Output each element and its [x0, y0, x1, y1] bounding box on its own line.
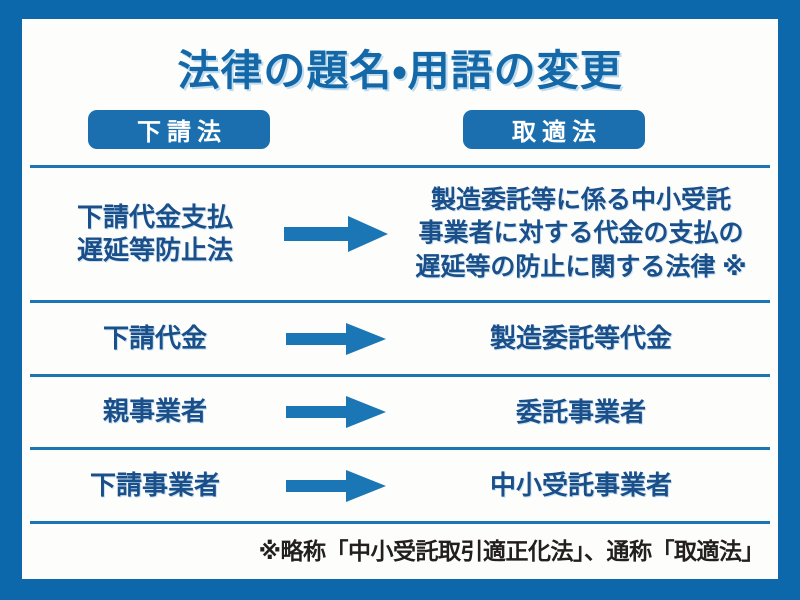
- table-row: 下請代金 製造委託等代金: [30, 303, 770, 374]
- old-term-label: 下請事業者: [30, 469, 280, 502]
- old-term-label: 下請代金支払 遅延等防止法: [30, 201, 280, 268]
- infographic-card: 法律の題名・用語の変更 下請法 取適法 下請代金支払 遅延等防止法 製造委託等に…: [22, 19, 778, 579]
- separator-line-bottom: [30, 521, 770, 524]
- right-arrow-icon: [286, 470, 386, 502]
- arrow-cell: [280, 396, 392, 428]
- column-header-new-law: 取適法: [463, 110, 645, 149]
- column-header-old-law: 下請法: [88, 110, 270, 149]
- footnote-text: ※略称「中小受託取引適正化法」、通称「取適法」: [30, 527, 770, 571]
- infographic-container: 法律の題名・用語の変更 下請法 取適法 下請代金支払 遅延等防止法 製造委託等に…: [0, 0, 800, 600]
- old-term-label: 親事業者: [30, 395, 280, 428]
- table-row: 下請代金支払 遅延等防止法 製造委託等に係る中小受託 事業者に対する代金の支払の…: [30, 168, 770, 300]
- new-term-label: 委託事業者: [392, 395, 770, 430]
- right-arrow-icon: [284, 216, 388, 252]
- old-term-label: 下請代金: [30, 322, 280, 355]
- table-row: 下請事業者 中小受託事業者: [30, 450, 770, 521]
- new-term-label: 製造委託等に係る中小受託 事業者に対する代金の支払の 遅延等の防止に関する法律 …: [392, 184, 770, 284]
- arrow-cell: [280, 470, 392, 502]
- right-arrow-icon: [286, 396, 386, 428]
- table-row: 親事業者 委託事業者: [30, 377, 770, 447]
- new-term-label: 中小受託事業者: [392, 468, 770, 503]
- arrow-cell: [280, 323, 392, 355]
- new-term-label: 製造委託等代金: [392, 321, 770, 356]
- arrow-cell: [280, 216, 392, 252]
- page-title: 法律の題名・用語の変更: [22, 37, 778, 98]
- right-arrow-icon: [286, 323, 386, 355]
